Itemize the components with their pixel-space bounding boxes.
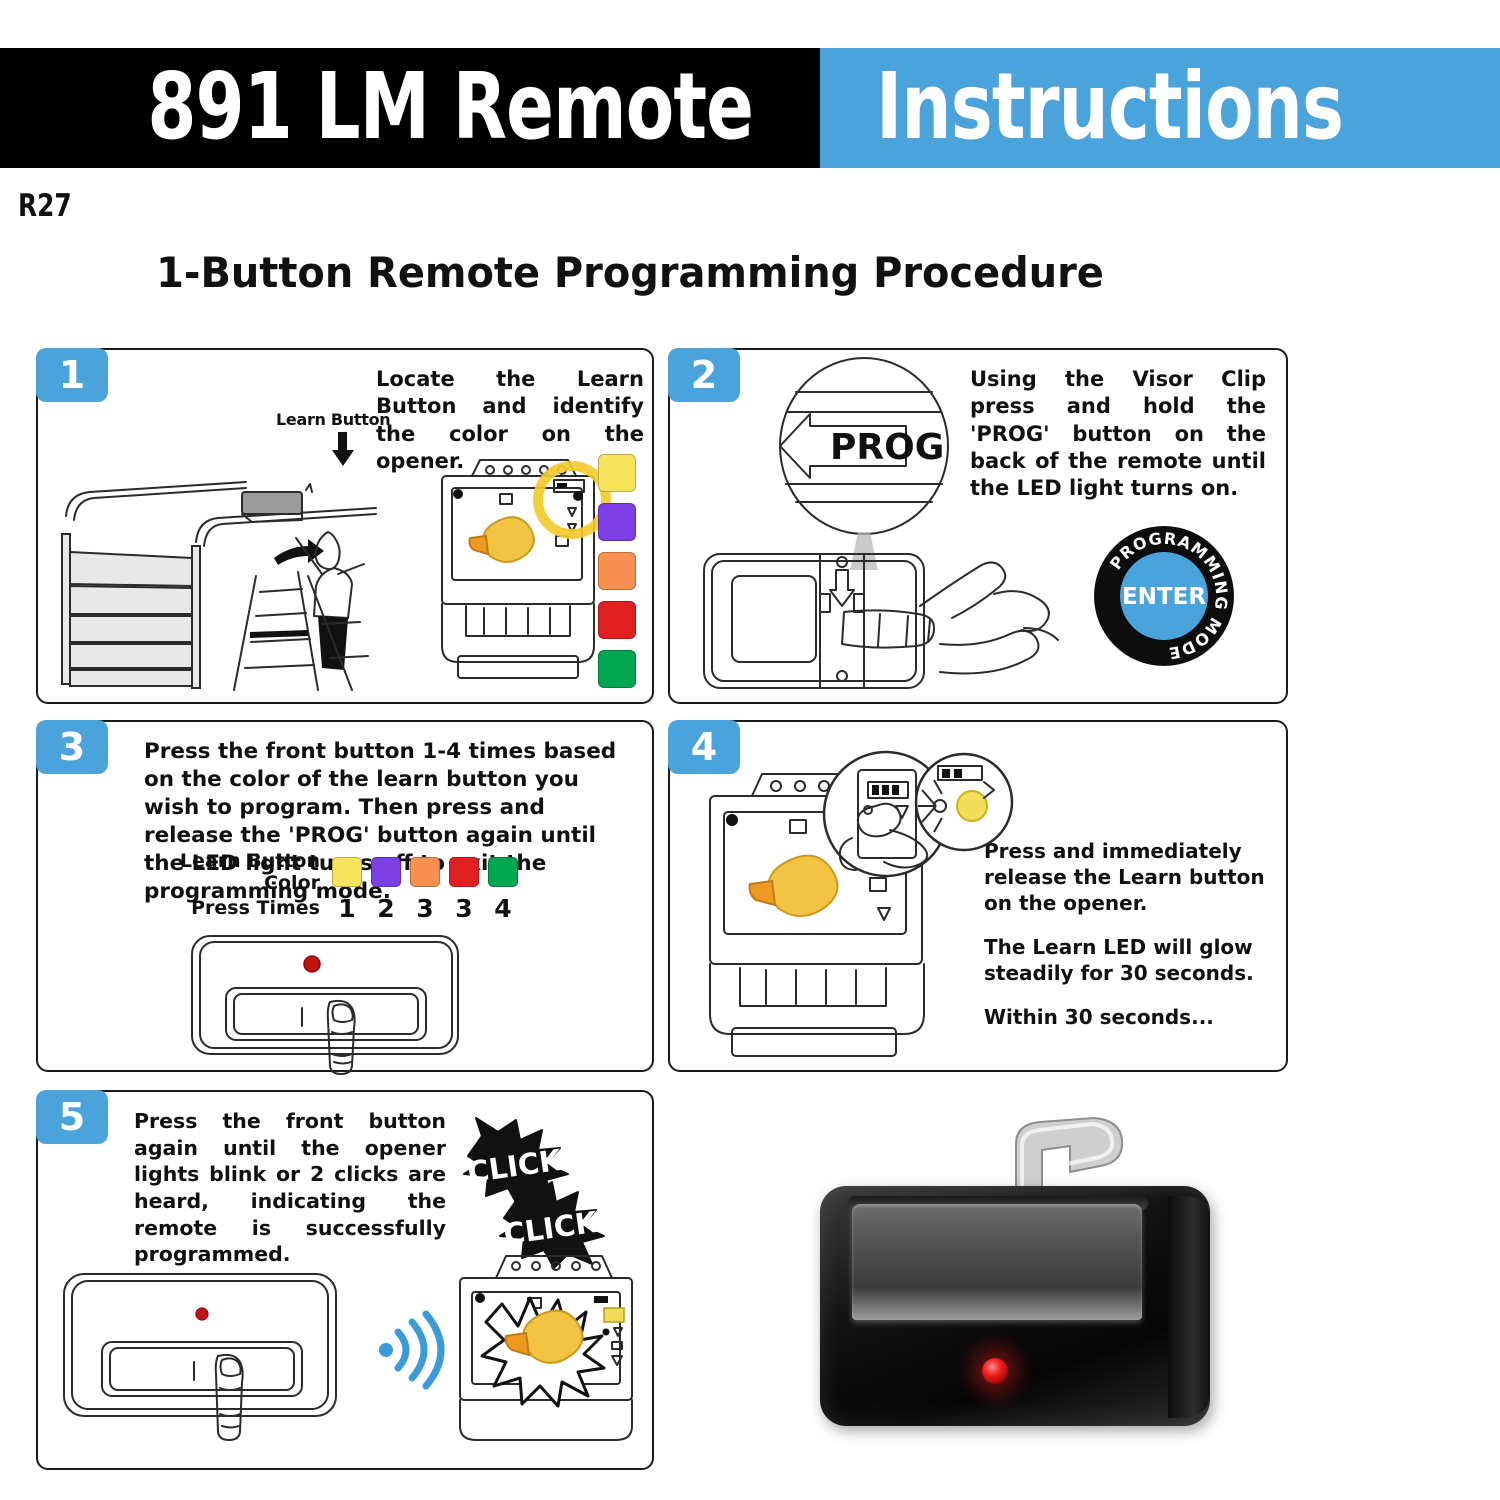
step-panel-4: 4 Press and immediately release the Lear… xyxy=(668,720,1288,1072)
step-panel-3: 3 Press the front button 1-4 times based… xyxy=(36,720,654,1072)
header-title-product: 891 LM Remote xyxy=(147,62,753,154)
rf-signal-waves-icon xyxy=(376,1310,436,1386)
learn-button-callout-label: Learn Button xyxy=(276,410,390,429)
table-row-colors: Learn Button Color xyxy=(168,854,527,890)
color-swatch-purple xyxy=(598,503,636,541)
step-badge-4: 4 xyxy=(668,720,740,774)
remote-front-press-illustration-5 xyxy=(58,1268,358,1448)
press-times-orange: 3 xyxy=(410,894,440,923)
header-title-instructions: Instructions xyxy=(876,62,1343,154)
remote-side-edge xyxy=(1168,1196,1210,1418)
opener-unit-illustration-4 xyxy=(692,762,942,1062)
press-times-purple: 2 xyxy=(371,894,401,923)
row-label-press-times: Press Times xyxy=(168,897,332,919)
color-swatch-yellow xyxy=(332,857,362,887)
opener-unit-illustration-1 xyxy=(428,450,608,680)
press-times-yellow: 1 xyxy=(332,894,362,923)
prog-magnifier-callout: PROG xyxy=(774,356,954,546)
step-panel-1: 1 Locate the Learn Button and identify t… xyxy=(36,348,654,704)
learn-button-arrow-icon xyxy=(328,432,358,468)
step-badge-3: 3 xyxy=(36,720,108,774)
color-swatch-green xyxy=(488,857,518,887)
color-swatch-orange xyxy=(410,857,440,887)
visor-clip xyxy=(1008,1118,1134,1196)
opener-unit-flashing-illustration xyxy=(446,1248,646,1448)
page-title: 1-Button Remote Programming Procedure xyxy=(32,248,1229,297)
document-code: R27 xyxy=(18,188,72,224)
table-row-press-times: Press Times 1 2 3 3 4 xyxy=(168,890,527,926)
step-badge-1: 1 xyxy=(36,348,108,402)
step-badge-2: 2 xyxy=(668,348,740,402)
step-panel-2: 2 Using the Visor Clip press and hold th… xyxy=(668,348,1288,704)
color-swatch-red xyxy=(598,601,636,639)
color-swatch-red xyxy=(449,857,479,887)
step-5-instruction-text: Press the front button again until the o… xyxy=(134,1108,446,1268)
color-swatch-yellow xyxy=(598,454,636,492)
press-times-green: 4 xyxy=(488,894,518,923)
enter-label: ENTER xyxy=(1122,584,1206,610)
color-swatch-orange xyxy=(598,552,636,590)
step-4-paragraph-1: Press and immediately release the Learn … xyxy=(984,838,1278,916)
color-swatch-purple xyxy=(371,857,401,887)
step-panel-5: 5 Press the front button again until the… xyxy=(36,1090,654,1470)
step-4-paragraph-2: The Learn LED will glow steadily for 30 … xyxy=(984,934,1278,986)
learn-color-press-times-table: Learn Button Color Press Times 1 2 3 3 4 xyxy=(168,854,527,926)
learn-button-color-strip xyxy=(598,454,636,699)
step-2-instruction-text: Using the Visor Clip press and hold the … xyxy=(970,366,1266,502)
programming-mode-enter-badge: PROGRAMMING MODE ENTER xyxy=(1090,522,1238,670)
header-blue-band: Instructions xyxy=(820,48,1500,168)
color-swatch-green xyxy=(598,650,636,688)
svg-text:PROG: PROG xyxy=(830,427,944,468)
step-4-paragraph-3: Within 30 seconds... xyxy=(984,1004,1278,1030)
remote-led-indicator xyxy=(982,1358,1008,1384)
remote-back-with-hand-illustration xyxy=(694,548,1094,698)
remote-front-press-illustration-3 xyxy=(186,930,506,1072)
row-label-learn-button-color: Learn Button Color xyxy=(168,850,332,894)
header-black-band: 891 LM Remote xyxy=(0,48,820,168)
product-photo-remote xyxy=(800,1100,1280,1470)
garage-door-illustration xyxy=(46,446,406,696)
remote-front-button[interactable] xyxy=(852,1204,1142,1320)
step-badge-5: 5 xyxy=(36,1090,108,1144)
step-4-instruction-text: Press and immediately release the Learn … xyxy=(984,838,1278,1048)
press-times-red: 3 xyxy=(449,894,479,923)
page-header: 891 LM Remote Instructions xyxy=(0,48,1500,168)
